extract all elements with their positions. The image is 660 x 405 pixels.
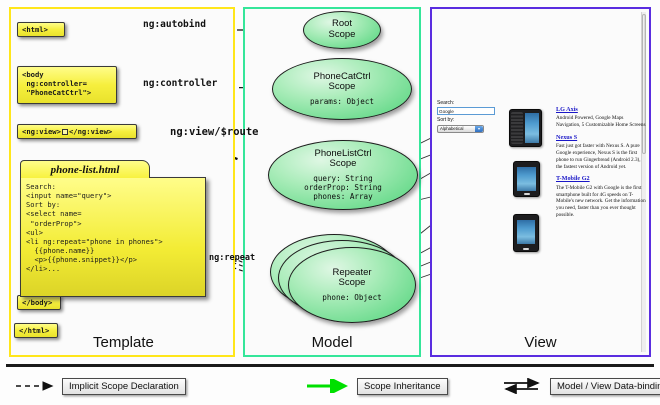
scope-repeater: Repeater Scope phone: Object xyxy=(288,247,416,323)
scope-phonecatctrl-title: PhoneCatCtrl Scope xyxy=(313,72,370,93)
scope-phonelistctrl-props: query: String orderProp: String phones: … xyxy=(304,174,382,201)
green-arrow-icon xyxy=(305,379,357,393)
legend-label-implicit: Implicit Scope Declaration xyxy=(62,378,186,395)
sort-select-value: Alphabetical xyxy=(440,126,463,131)
list-item: LG Axis Android Powered, Google Maps Nav… xyxy=(556,106,646,129)
phone-list-callout: phone-list.html Search: <input name="que… xyxy=(20,160,206,297)
double-arrow-icon xyxy=(500,378,550,394)
phone-home-button-3 xyxy=(523,248,529,251)
sort-label: Sort by: xyxy=(437,117,499,123)
scope-phonecatctrl: PhoneCatCtrl Scope params: Object xyxy=(272,58,412,120)
code-ngview: <ng:view></ng:view> xyxy=(17,124,137,139)
phone-thumbnail-3 xyxy=(513,214,539,252)
view-search-form: Search: Google Sort by: Alphabetical ▾ xyxy=(437,100,499,133)
code-body-close: </body> xyxy=(17,295,61,310)
phone-thumbnail-2 xyxy=(513,161,540,197)
legend-item-databinding: Model / View Data-binding xyxy=(500,377,660,395)
list-item: T-Mobile G2 The T-Mobile G2 with Google … xyxy=(556,175,646,218)
legend-item-implicit: Implicit Scope Declaration xyxy=(14,377,186,395)
search-label: Search: xyxy=(437,100,499,106)
label-ng-autobind: ng:autobind xyxy=(143,19,206,30)
chevron-down-icon: ▾ xyxy=(475,126,483,132)
code-body-open: <body ng:controller= "PhoneCatCtrl"> xyxy=(17,66,117,104)
scope-repeater-props: phone: Object xyxy=(322,293,381,302)
legend-divider xyxy=(6,364,654,367)
phone-thumbnail-1 xyxy=(509,109,542,147)
phone-name-link[interactable]: LG Axis xyxy=(556,106,646,113)
scope-repeater-title: Repeater Scope xyxy=(332,268,371,289)
phone-home-button-2 xyxy=(524,193,530,196)
model-panel-label: Model xyxy=(245,334,419,351)
legend-label-databinding: Model / View Data-binding xyxy=(550,378,660,395)
phone-screen-2 xyxy=(517,167,536,191)
scope-root: Root Scope xyxy=(303,11,381,49)
scope-root-title: Root Scope xyxy=(329,19,356,40)
dashed-arrow-icon xyxy=(14,379,62,393)
ngview-open-tag: <ng:view> xyxy=(22,127,61,136)
scope-phonecatctrl-props: params: Object xyxy=(310,97,374,106)
callout-title: phone-list.html xyxy=(20,160,150,178)
scope-phonelistctrl-title: PhoneListCtrl Scope xyxy=(314,149,371,170)
scope-phonelistctrl: PhoneListCtrl Scope query: String orderP… xyxy=(268,140,418,210)
phone-snippet: Android Powered, Google Maps Navigation,… xyxy=(556,115,646,129)
label-ng-view-route: ng:view/$route xyxy=(170,126,259,138)
phone-snippet: Fast just got faster with Nexus S. A pur… xyxy=(556,143,646,170)
phone-screen-1 xyxy=(525,113,539,143)
legend: Implicit Scope Declaration Scope Inherit… xyxy=(0,374,660,400)
legend-label-inheritance: Scope Inheritance xyxy=(357,378,448,395)
view-panel-label: View xyxy=(432,334,649,351)
phone-screen-3 xyxy=(517,220,535,244)
callout-code: Search: <input name="query"> Sort by: <s… xyxy=(20,177,206,297)
ngview-placeholder-icon xyxy=(62,129,68,135)
phone-name-link[interactable]: Nexus S xyxy=(556,134,646,141)
view-phone-list: LG Axis Android Powered, Google Maps Nav… xyxy=(556,106,646,224)
diagram-canvas: Template <html> <body ng:controller= "Ph… xyxy=(0,0,660,405)
phone-snippet: The T-Mobile G2 with Google is the first… xyxy=(556,185,646,219)
list-item: Nexus S Fast just got faster with Nexus … xyxy=(556,134,646,170)
code-html-close: </html> xyxy=(14,323,58,338)
phone-name-link[interactable]: T-Mobile G2 xyxy=(556,175,646,182)
legend-item-inheritance: Scope Inheritance xyxy=(305,377,448,395)
phone-keyboard-1 xyxy=(511,112,523,144)
code-html-open: <html> xyxy=(17,22,65,37)
search-input[interactable]: Google xyxy=(437,107,495,115)
label-ng-repeat: ng:repeat xyxy=(209,253,255,263)
sort-select[interactable]: Alphabetical ▾ xyxy=(437,125,484,133)
label-ng-controller: ng:controller xyxy=(143,78,217,89)
ngview-close-tag: </ng:view> xyxy=(69,127,112,136)
